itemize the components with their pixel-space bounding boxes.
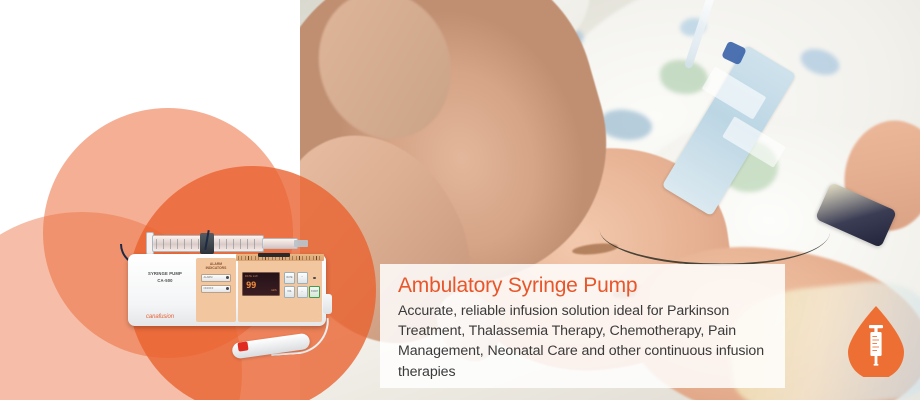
panel-title: Ambulatory Syringe Pump [398,274,769,297]
syringe-droplet-badge[interactable] [847,305,905,377]
bolus-button[interactable] [237,341,248,351]
syringe-pump-device: SYRINGE PUMP CA-500 canafusion ALARM IND… [120,228,335,358]
alarm-button-label: ALARM [204,276,213,279]
key-up[interactable]: ⌃ [297,272,308,284]
alarm-led-icon [226,276,229,279]
display-top-text: RATE ml/h [245,275,258,278]
alarm-button[interactable]: ALARM [201,274,231,282]
syringe-nozzle [262,238,298,249]
text-panel: Ambulatory Syringe Pump Accurate, reliab… [380,264,785,388]
droplet-shape-icon [847,305,905,377]
syringe-tip [294,240,308,247]
panel-body: Accurate, reliable infusion solution ide… [398,301,769,382]
display-value: 99 [246,281,256,291]
power-button[interactable]: ON/OFF [201,285,231,293]
pump-keypad: RATE ⌃ VOL ⌄ START [284,272,320,298]
device-label-line-2: CA-500 [134,278,196,284]
key-volume[interactable]: VOL [284,286,295,298]
key-rate[interactable]: RATE [284,272,295,284]
syringe-scale-bar [236,254,324,261]
device-label-line-1: SYRINGE PUMP [134,271,196,277]
pump-control-panel: RATE ml/h 99 ml/h RATE ⌃ VOL ⌄ START [238,258,322,322]
power-button-label: ON/OFF [204,287,214,290]
key-start[interactable]: START [309,286,320,298]
scale-slider[interactable] [258,253,290,257]
pump-left-panel: SYRINGE PUMP CA-500 [134,259,196,321]
key-down[interactable]: ⌄ [297,286,308,298]
pump-end-cap [323,294,332,314]
key-indicator-icon [309,272,320,284]
power-led-icon [226,287,229,290]
alarm-indicators-block: ALARM INDICATORS ALARM ON/OFF [196,258,236,322]
banner: SYRINGE PUMP CA-500 canafusion ALARM IND… [0,0,920,400]
alarm-title-line-2: INDICATORS [196,266,236,270]
brand-logo: canafusion [132,314,188,320]
display-unit: ml/h [271,288,277,292]
pump-display: RATE ml/h 99 ml/h [242,272,280,296]
pump-body: SYRINGE PUMP CA-500 canafusion ALARM IND… [128,254,326,326]
